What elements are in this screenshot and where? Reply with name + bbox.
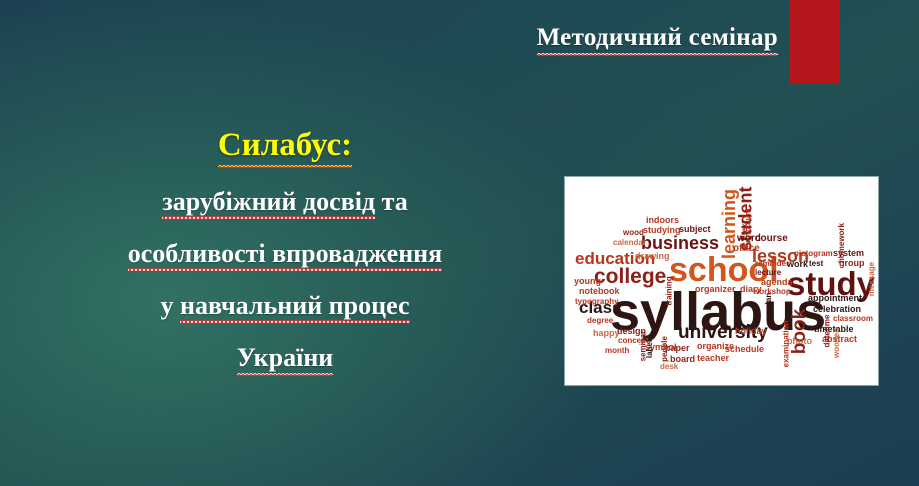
wordcloud-word: studying [643, 226, 681, 235]
wordcloud-word: test [809, 260, 823, 268]
wordcloud-word: message [868, 262, 876, 296]
wordcloud-word: indoors [646, 216, 679, 225]
wordcloud-word: system [833, 249, 864, 258]
wordcloud-word: reminder [755, 260, 789, 268]
wordcloud-word: degree [587, 317, 613, 325]
wordcloud-word: group [839, 259, 865, 268]
wordcloud-word: course [755, 234, 788, 244]
wordcloud-word: celebration [813, 305, 861, 314]
wordcloud-word: lecture [755, 269, 781, 277]
wordcloud-word: wooden [833, 328, 841, 358]
title-line-1: Силабус: [50, 128, 520, 167]
title-foreign-experience: зарубіжний досвід [162, 188, 375, 219]
wordcloud-word: agenda [761, 278, 793, 287]
wordcloud-canvas: syllabusschoolstudycollegeeducationbusin… [565, 177, 878, 385]
title-line-3: особливості впровадження [50, 240, 520, 271]
wordcloud-word: photo [787, 337, 812, 346]
wordcloud-word: book [790, 309, 809, 354]
wordcloud-word: holiday [735, 327, 767, 336]
wordcloud-word: college [594, 266, 666, 287]
wordcloud-word: notebook [579, 287, 620, 296]
title-preposition-u: у [160, 291, 180, 320]
wordcloud-word: business [641, 234, 719, 252]
wordcloud-word: month [605, 347, 629, 355]
wordcloud-word: diary [740, 285, 762, 294]
wordcloud-word: young [574, 277, 601, 286]
title-line-2: зарубіжний досвід та [50, 188, 520, 219]
wordcloud-word: classroom [833, 315, 873, 323]
title-conjunction-ta: та [375, 187, 408, 216]
header-title: Методичний семінар [537, 24, 778, 55]
wordcloud-word: appointment [808, 294, 862, 303]
wordcloud-word: happy [593, 329, 620, 338]
wordcloud-word: office [733, 244, 760, 254]
wordcloud-word: work [787, 260, 808, 269]
wordcloud-word: calendar [613, 239, 646, 247]
wordcloud-word: organizer [695, 285, 736, 294]
wordcloud-word: subject [679, 225, 711, 234]
accent-bar-decoration [789, 0, 840, 83]
wordcloud-word: training [666, 276, 674, 305]
title-line-4: у навчальний процес [50, 292, 520, 323]
wordcloud-word: teacher [697, 354, 729, 363]
slide-header: Методичний семінар [0, 24, 790, 55]
wordcloud-word: pictogram [794, 250, 833, 258]
wordcloud-word: datetime [823, 315, 831, 348]
wordcloud-word: desk [660, 363, 678, 371]
wordcloud-image: syllabusschoolstudycollegeeducationbusin… [565, 177, 878, 385]
title-syllabus: Силабус: [218, 128, 352, 167]
wordcloud-word: symbol [645, 343, 677, 352]
wordcloud-word: organize [697, 342, 734, 351]
title-block: Силабус: зарубіжний досвід та особливост… [50, 128, 520, 375]
wordcloud-word: drawing [635, 252, 670, 261]
title-educational-process: навчальний процес [180, 292, 410, 323]
title-ukraine: України [237, 344, 334, 375]
title-implementation-features: особливості впровадження [128, 240, 442, 271]
title-line-5: України [50, 344, 520, 375]
presentation-slide: Методичний семінар Силабус: зарубіжний д… [0, 0, 919, 486]
wordcloud-word: wood [623, 229, 644, 237]
wordcloud-word: examination [782, 321, 790, 368]
wordcloud-word: plan [765, 293, 773, 309]
wordcloud-word: typography [575, 298, 619, 306]
